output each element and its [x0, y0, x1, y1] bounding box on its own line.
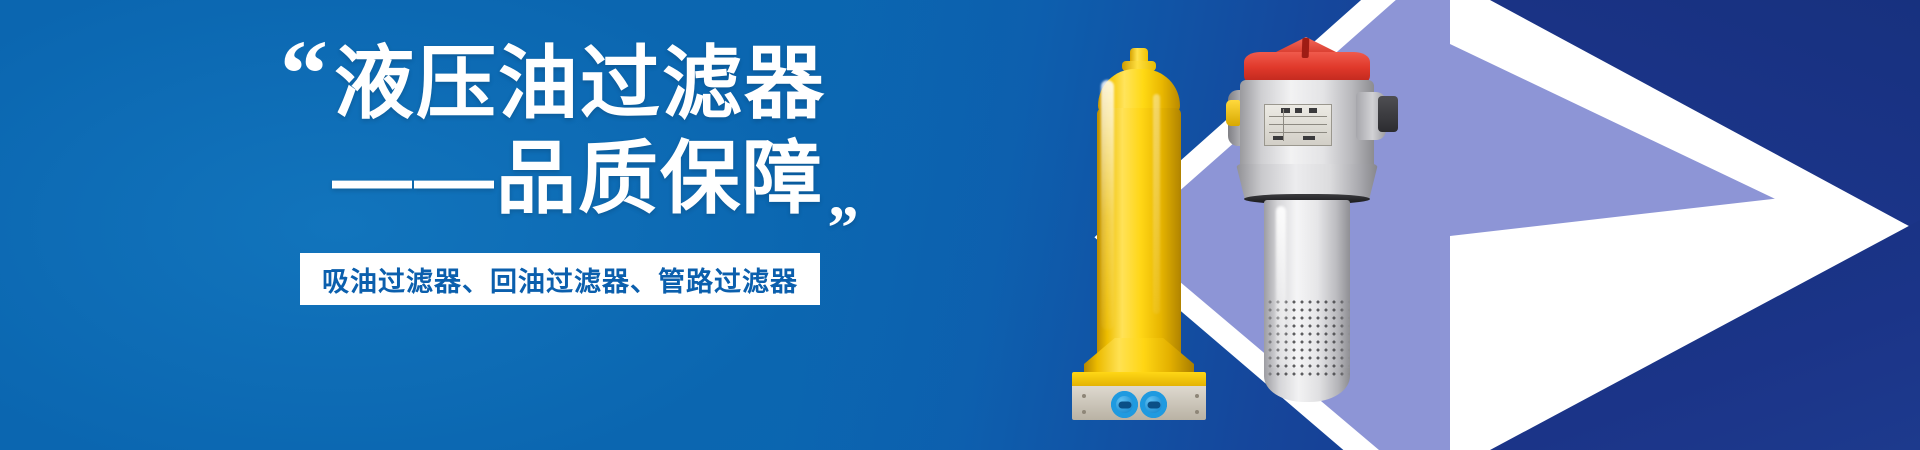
product-image-suction-filter [1075, 48, 1203, 400]
filter-bolt [1195, 410, 1199, 414]
filter-bolt [1195, 394, 1199, 398]
product-image-return-filter [1228, 38, 1404, 410]
filter-bolt [1082, 410, 1086, 414]
return-filter-flange [1236, 164, 1378, 198]
headline-line-2-wrap: ——品质保障„ [330, 137, 890, 220]
return-filter-yellow-plug [1226, 100, 1240, 126]
headline: 液压油过滤器 ——品质保障„ [330, 42, 890, 220]
filter-highlight-secondary [1153, 94, 1160, 314]
filter-bolt [1082, 394, 1086, 398]
filter-highlight [1101, 80, 1114, 330]
quote-open-mark: “ [280, 26, 324, 122]
return-filter-nameplate [1264, 104, 1332, 146]
promo-banner: “ 液压油过滤器 ——品质保障„ 吸油过滤器、回油过滤器、管路过滤器 [0, 0, 1920, 450]
quote-close-mark: „ [828, 164, 857, 228]
subtitle-text: 吸油过滤器、回油过滤器、管路过滤器 [322, 260, 798, 299]
subtitle-box: 吸油过滤器、回油过滤器、管路过滤器 [300, 253, 820, 305]
headline-line-1: 液压油过滤器 [330, 42, 890, 125]
return-filter-cap-notch [1302, 38, 1310, 58]
filter-port-cap-right [1140, 391, 1167, 418]
headline-line-2: ——品质保障 [332, 134, 824, 223]
return-filter-highlight [1276, 206, 1286, 366]
filter-base-plate [1072, 386, 1206, 420]
return-filter-indicator-knob [1378, 96, 1398, 132]
filter-port-cap-left [1111, 391, 1138, 418]
